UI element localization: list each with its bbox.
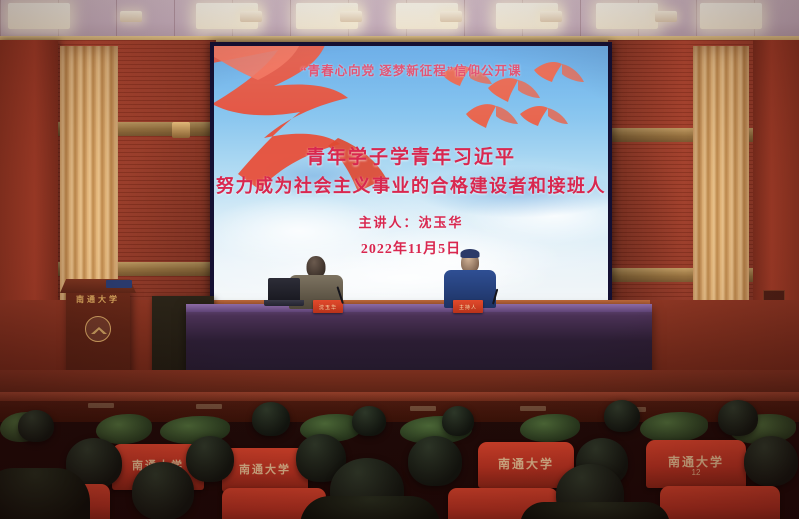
laptop-keyboard [264, 300, 304, 306]
audience-head [718, 400, 758, 436]
audience-head [604, 400, 640, 432]
head-table-surface [186, 304, 652, 312]
led-screen: “青春心向党 逐梦新征程”信仰公开课 青年学子学青年习近平 努力成为社会主义事业… [214, 46, 608, 300]
presenter-nameplate-text: 沈玉华 [313, 304, 343, 311]
audience-silhouette [300, 496, 440, 519]
wall-sconce-icon [172, 122, 190, 138]
audience-head [132, 462, 194, 519]
stage-plant [520, 414, 580, 442]
led-screen-frame: “青春心向党 逐梦新征程”信仰公开课 青年学子学青年习近平 努力成为社会主义事业… [210, 42, 612, 304]
ceiling-spot-light [440, 11, 462, 22]
host-nameplate-text: 主持人 [453, 304, 483, 311]
host-nameplate: 主持人 [453, 300, 483, 313]
led-date: 2022年11月5日 [214, 238, 608, 258]
ceiling-panel-light [8, 3, 70, 29]
audience-head [442, 406, 474, 436]
stage-plant [640, 412, 708, 442]
university-crest-icon [85, 316, 111, 342]
audience-head [408, 436, 462, 486]
laptop-screen [268, 278, 300, 300]
led-title-line1: 青年学子学青年习近平 [214, 142, 608, 169]
ceiling [0, 0, 799, 40]
ceiling-panel-light [596, 3, 658, 29]
led-presenter: 主讲人：沈玉华 [214, 212, 608, 231]
audience-seat: 南通大学 12 [646, 440, 746, 488]
podium-university-name: 南通大学 [66, 294, 130, 305]
host-hair [461, 249, 480, 258]
seat-university-label: 南通大学 [222, 461, 308, 477]
audience-head [744, 436, 798, 486]
ceiling-spot-light [540, 11, 562, 22]
audience-head [252, 402, 290, 436]
ceiling-panel-light [700, 3, 762, 29]
audience-head [18, 410, 54, 442]
audience-silhouette [0, 468, 90, 519]
head-table [186, 304, 652, 378]
ceiling-spot-light [240, 11, 262, 22]
ceiling-spot-light [120, 11, 142, 22]
presenter-nameplate: 沈玉华 [313, 300, 343, 313]
led-title-line2: 努力成为社会主义事业的合格建设者和接班人 [214, 172, 608, 198]
seat-number: 12 [646, 468, 746, 477]
ceiling-spot-light [340, 11, 362, 22]
podium-monitor [106, 280, 132, 288]
led-subtitle: “青春心向党 逐梦新征程”信仰公开课 [214, 60, 608, 79]
lecture-hall-scene: “青春心向党 逐梦新征程”信仰公开课 青年学子学青年习近平 努力成为社会主义事业… [0, 0, 799, 519]
audience-silhouette [520, 502, 670, 519]
ceiling-spot-light [655, 11, 677, 22]
audience-area: 南通大学 8 南通大学 南通大学 南通大学 12 [0, 392, 799, 519]
audience-head [352, 406, 386, 436]
audience-seat: 南通大学 [222, 448, 308, 492]
audience-seat [660, 486, 780, 519]
audience-head [186, 436, 234, 482]
seat-university-label: 南通大学 [478, 455, 574, 472]
